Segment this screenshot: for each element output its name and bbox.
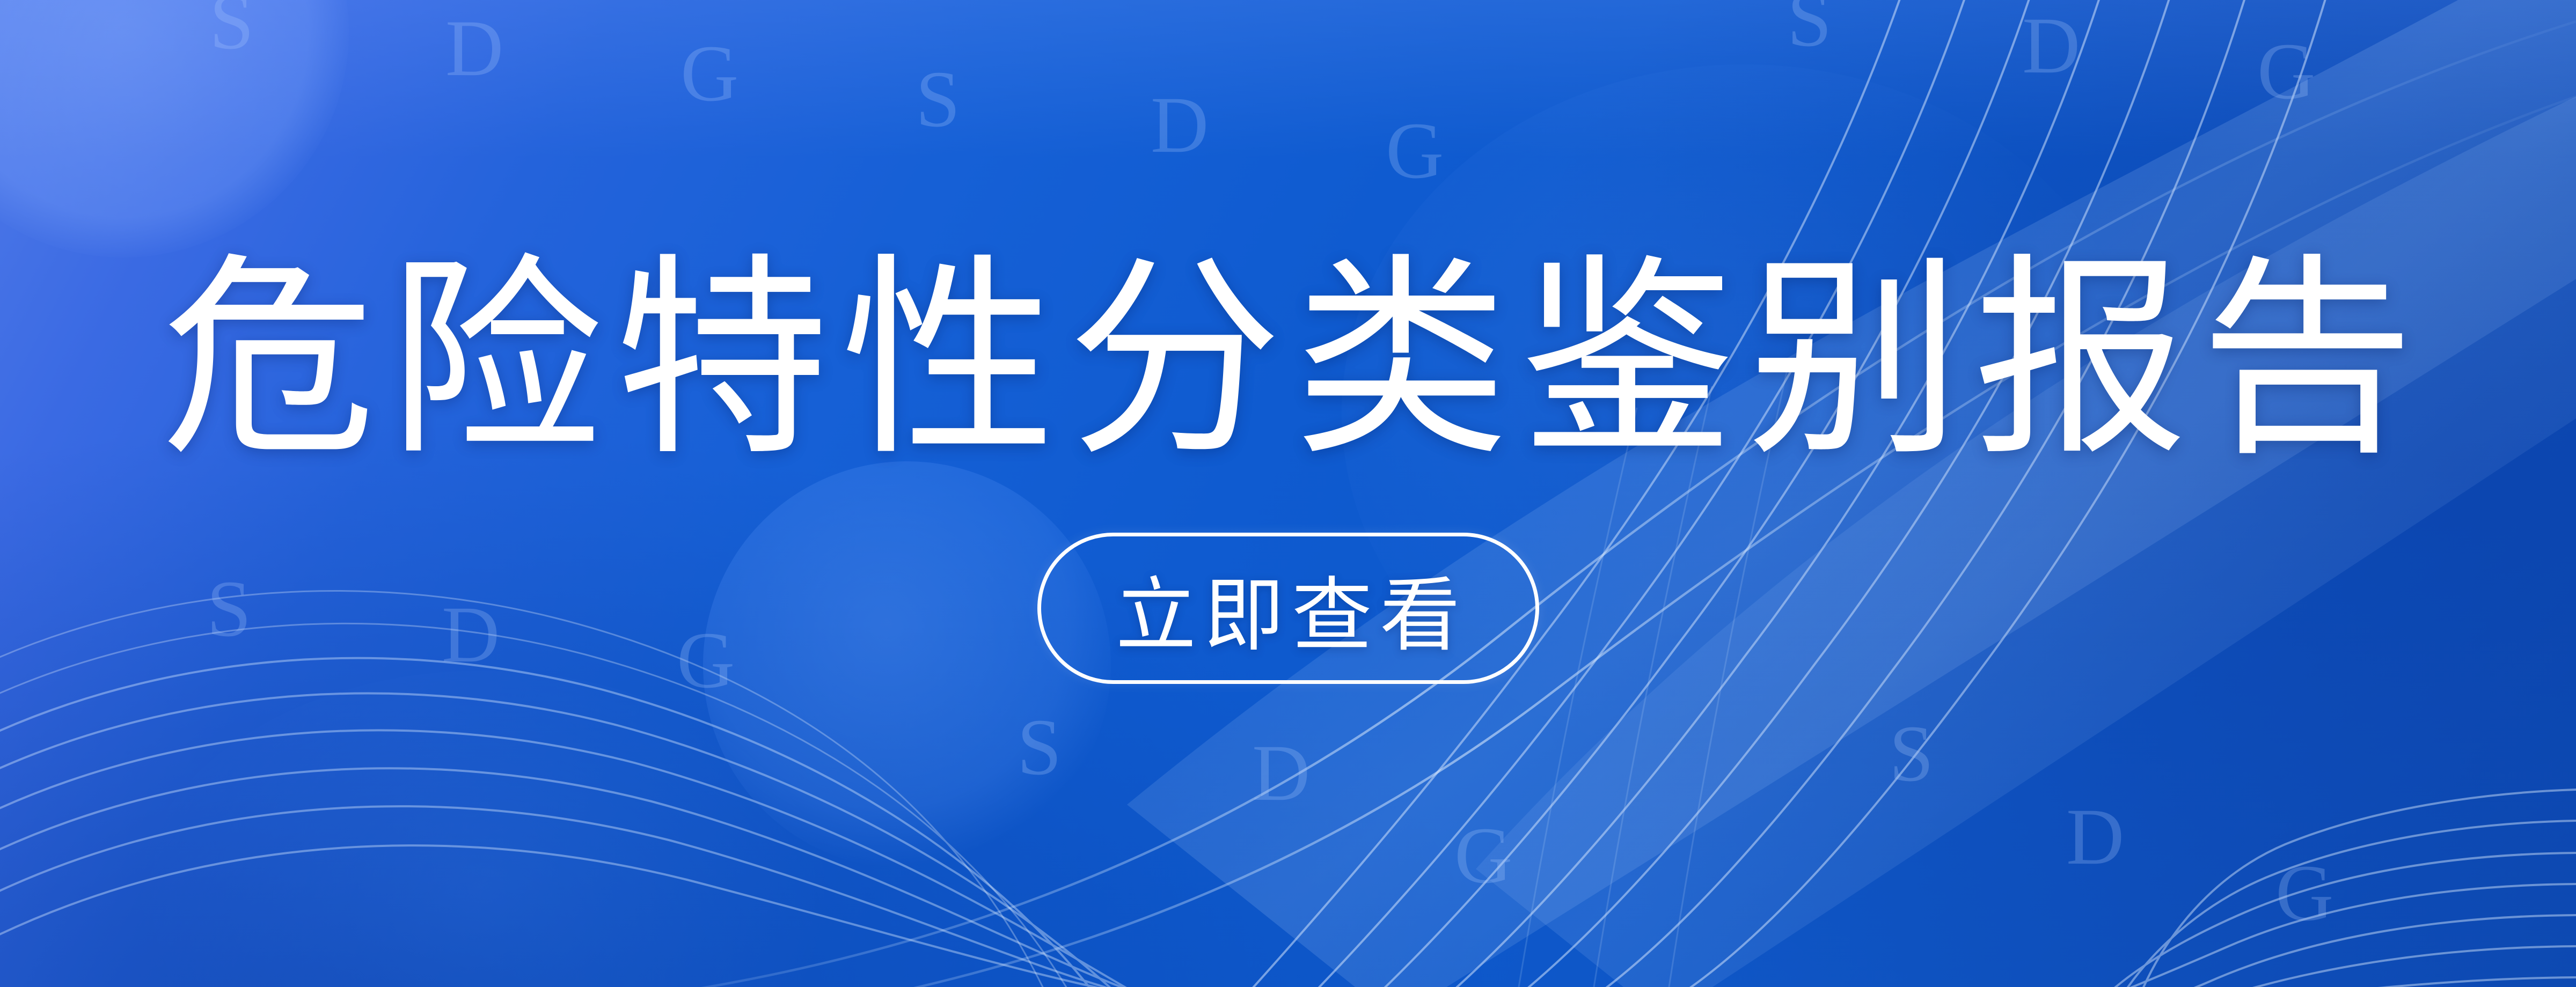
view-now-button[interactable]: 立即查看 xyxy=(1037,533,1539,684)
banner-content: 危险特性分类鉴别报告 立即查看 xyxy=(0,0,2576,987)
cta-row: 立即查看 xyxy=(0,533,2576,684)
page-title: 危险特性分类鉴别报告 xyxy=(150,244,2426,476)
promo-banner: SDGSDGSDGSDGSDGSDG 危险特性分类鉴别报告 立即查看 xyxy=(0,0,2576,987)
